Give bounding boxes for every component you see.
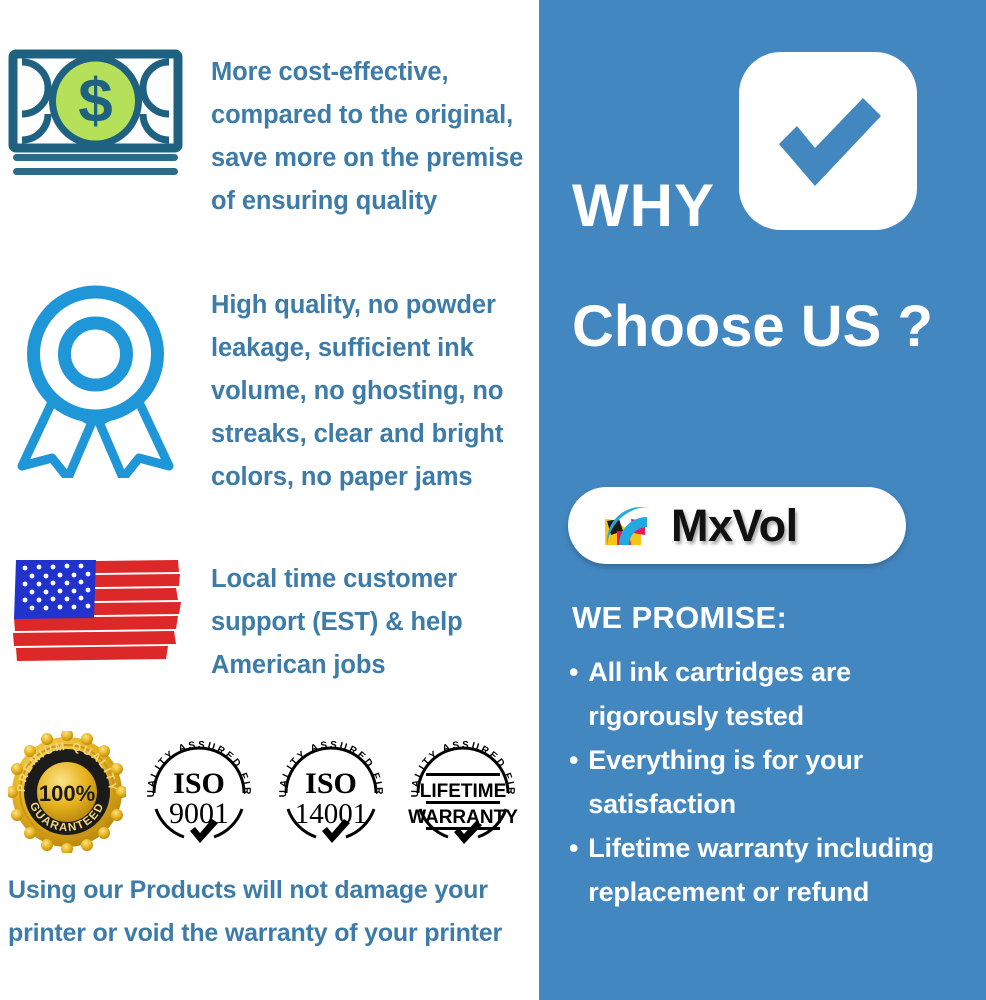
svg-text:WARRANTY: WARRANTY	[408, 807, 518, 828]
left-column: $ More cost-effective, compared to the o…	[0, 0, 539, 1000]
feature-text: More cost-effective, compared to the ori…	[211, 48, 546, 223]
feature-high-quality: High quality, no powder leakage, suffici…	[8, 282, 529, 499]
iso-14001-badge: QUALITY ASSURED FIRM ISO 14001	[272, 731, 390, 853]
svg-text:100%: 100%	[39, 781, 95, 806]
lifetime-warranty-badge: QUALITY ASSURED FIRM LIFETIME WARRANTY	[404, 731, 522, 853]
premium-quality-badge: PREMIUM QUALITY GUARANTEED 100%	[8, 731, 126, 853]
feature-text: Local time customer support (EST) & help…	[211, 556, 501, 687]
why-word: WHY	[572, 176, 715, 236]
promise-item: • Everything is for your satisfaction	[569, 738, 979, 826]
award-ribbon-icon	[8, 282, 183, 478]
mxvol-logo-mark	[601, 497, 655, 554]
promise-item: • All ink cartridges are rigorously test…	[569, 650, 979, 738]
usa-flag-icon	[8, 556, 183, 674]
iso-9001-badge: QUALITY ASSURED FIRM ISO 9001	[140, 731, 258, 853]
mxvol-logo-text: MxVol	[671, 500, 798, 552]
svg-text:9001: 9001	[169, 797, 229, 830]
mxvol-logo: MxVol	[568, 487, 906, 564]
bullet-icon: •	[569, 826, 578, 914]
infographic-page: $ More cost-effective, compared to the o…	[0, 0, 986, 1000]
svg-text:ISO: ISO	[305, 767, 357, 800]
why-heading-row: WHY	[572, 176, 715, 236]
svg-text:LIFETIME: LIFETIME	[420, 781, 507, 802]
feature-local-support: Local time customer support (EST) & help…	[8, 556, 501, 687]
feature-text: High quality, no powder leakage, suffici…	[211, 282, 529, 499]
promise-title: WE PROMISE:	[572, 600, 787, 636]
promise-list: • All ink cartridges are rigorously test…	[569, 650, 979, 914]
checkmark-icon	[739, 52, 917, 230]
promise-text: Lifetime warranty including replacement …	[588, 826, 979, 914]
svg-text:14001: 14001	[295, 798, 368, 830]
right-panel: WHY Choose US ? MxVol WE PROMISE: •	[539, 0, 986, 1000]
feature-cost-effective: $ More cost-effective, compared to the o…	[8, 48, 546, 223]
checkmark-tile	[739, 52, 917, 230]
choose-us-heading: Choose US ?	[572, 292, 933, 362]
svg-text:ISO: ISO	[173, 767, 225, 800]
bullet-icon: •	[569, 738, 578, 826]
money-bill-icon: $	[8, 48, 183, 176]
disclaimer-text: Using our Products will not damage your …	[8, 869, 536, 955]
bullet-icon: •	[569, 650, 578, 738]
promise-item: • Lifetime warranty including replacemen…	[569, 826, 979, 914]
svg-text:$: $	[78, 67, 112, 136]
promise-text: All ink cartridges are rigorously tested	[588, 650, 979, 738]
promise-text: Everything is for your satisfaction	[588, 738, 979, 826]
certification-badges: PREMIUM QUALITY GUARANTEED 100%	[0, 731, 539, 863]
